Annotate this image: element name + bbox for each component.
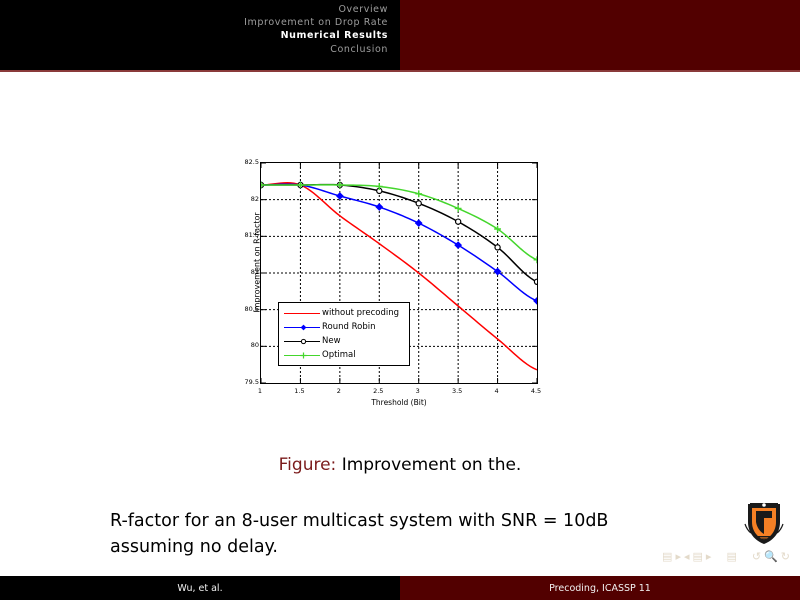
current-frame-icon[interactable]: ▤ xyxy=(726,550,736,563)
chart-data-point xyxy=(337,193,343,199)
chart-data-point xyxy=(534,279,537,284)
chart-y-tick: 81.5 xyxy=(231,231,259,239)
figure-caption: Figure: Improvement on the. xyxy=(0,455,800,475)
chart-x-axis-label: Threshold (Bit) xyxy=(260,398,538,407)
caption-text: Improvement on the. xyxy=(342,455,522,475)
footer-author: Wu, et al. xyxy=(0,576,400,600)
current-slide-icon[interactable]: ▤ xyxy=(693,550,703,563)
legend-line xyxy=(284,313,320,315)
slide-header: OverviewImprovement on Drop RateNumerica… xyxy=(0,0,800,70)
nav-item-numerical-results[interactable]: Numerical Results xyxy=(0,29,388,42)
chart-x-tick: 1 xyxy=(245,387,275,395)
forward-icon[interactable]: ↻ xyxy=(781,550,790,563)
beamer-navigation-symbols[interactable]: ▤ ▸ ◂ ▤ ▸ ▤ ↺ 🔍 ↻ xyxy=(620,548,790,564)
footer-title: Precoding, ICASSP 11 xyxy=(400,576,800,600)
legend-swatch xyxy=(282,307,322,319)
legend-label: without precoding xyxy=(322,309,399,318)
chart-x-tick: 4.5 xyxy=(521,387,551,395)
chart-data-point xyxy=(416,220,422,226)
chart-x-tick: 1.5 xyxy=(284,387,314,395)
chart-y-tick: 80 xyxy=(231,341,259,349)
university-shield-logo xyxy=(742,498,786,546)
chart-data-point xyxy=(495,245,500,250)
beginning-frame-icon[interactable]: ▤ xyxy=(662,550,672,563)
next-slide-icon[interactable]: ▸ xyxy=(706,550,712,563)
section-navigation[interactable]: OverviewImprovement on Drop RateNumerica… xyxy=(0,3,388,56)
chart-line xyxy=(261,184,537,301)
chart-y-tick: 81 xyxy=(231,268,259,276)
legend-row: without precoding xyxy=(282,306,406,320)
figure-block: Improvement on R-factor Threshold (Bit) … xyxy=(0,150,800,415)
body-line-1: R-factor for an 8-user multicast system … xyxy=(110,508,710,534)
legend-swatch xyxy=(282,321,322,333)
legend-label: Optimal xyxy=(322,351,356,360)
chart-y-tick: 79.5 xyxy=(231,378,259,386)
slide-footer: Wu, et al. Precoding, ICASSP 11 xyxy=(0,576,800,600)
nav-item-overview[interactable]: Overview xyxy=(0,3,388,16)
chart-x-tick: 4 xyxy=(482,387,512,395)
legend-row: Round Robin xyxy=(282,320,406,334)
chart-data-point xyxy=(534,256,537,263)
nav-item-improvement-on-drop-rate[interactable]: Improvement on Drop Rate xyxy=(0,16,388,29)
chart-series-new xyxy=(261,182,537,284)
chart-y-tick: 82.5 xyxy=(231,158,259,166)
legend-label: New xyxy=(322,337,341,346)
legend-row: Optimal xyxy=(282,348,406,362)
chart-data-point xyxy=(416,201,421,206)
chart-y-tick: 82 xyxy=(231,195,259,203)
chart-x-tick: 2.5 xyxy=(363,387,393,395)
chart-data-point xyxy=(297,182,304,189)
chart-x-tick: 3 xyxy=(403,387,433,395)
header-divider xyxy=(0,70,800,72)
chart-x-tick: 2 xyxy=(324,387,354,395)
chart-data-point xyxy=(456,219,461,224)
chart-y-tick: 80.5 xyxy=(231,305,259,313)
legend-swatch xyxy=(282,349,322,361)
chart-series-optimal xyxy=(261,182,537,264)
chart-line xyxy=(261,185,537,282)
caption-figure-word: Figure: xyxy=(279,455,337,475)
legend-marker-circle xyxy=(300,338,307,345)
legend-marker-diamond xyxy=(300,324,307,331)
chart-data-point xyxy=(415,190,422,197)
chart-data-point xyxy=(534,298,537,304)
previous-slide-icon[interactable]: ◂ xyxy=(684,550,690,563)
chart-data-point xyxy=(336,182,343,189)
chart-legend: without precodingRound RobinNewOptimal xyxy=(278,302,410,366)
legend-marker-plus xyxy=(300,352,307,359)
nav-item-conclusion[interactable]: Conclusion xyxy=(0,43,388,56)
back-icon[interactable]: ↺ xyxy=(752,550,761,563)
chart-data-point xyxy=(376,204,382,210)
chart-container: Improvement on R-factor Threshold (Bit) … xyxy=(235,150,565,415)
search-icon[interactable]: 🔍 xyxy=(764,550,778,563)
legend-row: New xyxy=(282,334,406,348)
chart-data-point xyxy=(455,205,462,212)
next-frame-icon[interactable]: ▸ xyxy=(675,550,681,563)
legend-swatch xyxy=(282,335,322,347)
legend-label: Round Robin xyxy=(322,323,375,332)
chart-x-tick: 3.5 xyxy=(442,387,472,395)
